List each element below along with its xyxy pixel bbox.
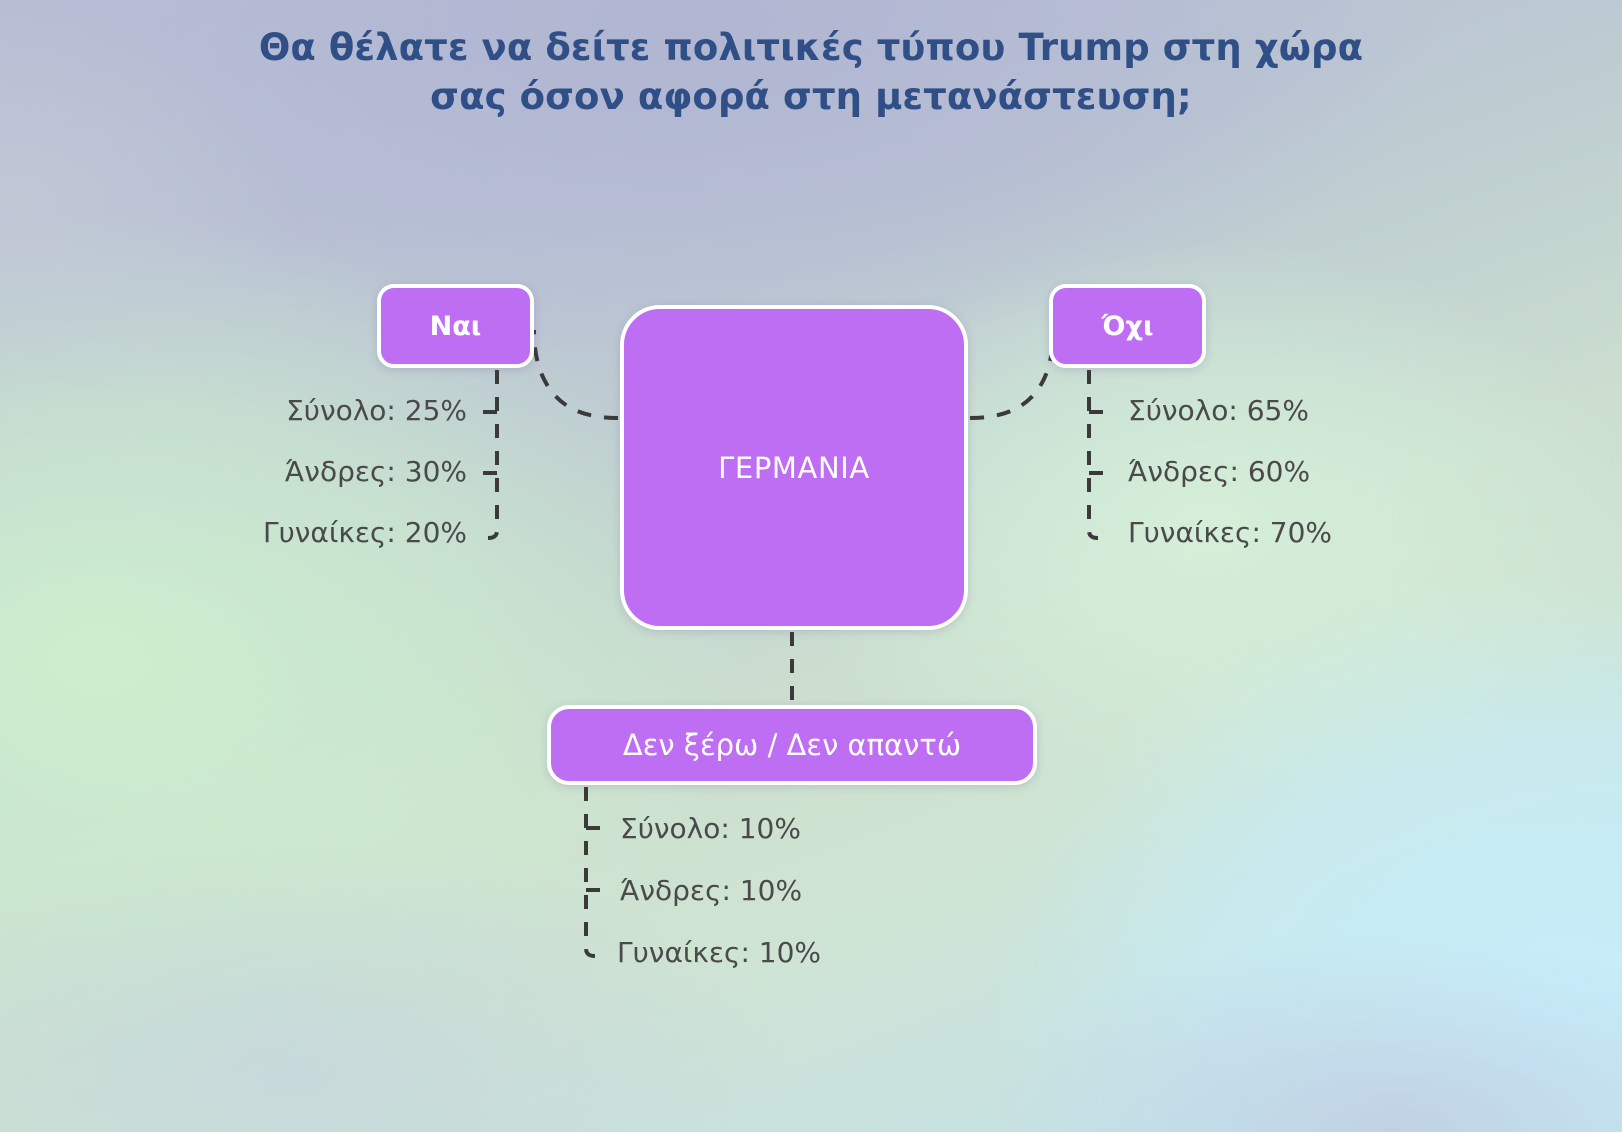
node-dont-know[interactable]: Δεν ξέρω / Δεν απαντώ	[547, 705, 1037, 785]
node-no-label: Όχι	[1102, 311, 1154, 342]
connector-yes-spine	[488, 370, 497, 538]
connector-dontknow-spine	[586, 787, 595, 956]
stat-dont-know-men: Άνδρες: 10%	[620, 874, 802, 907]
connector-center-to-no	[970, 330, 1053, 418]
stat-no-men: Άνδρες: 60%	[1128, 455, 1310, 488]
node-dont-know-label: Δεν ξέρω / Δεν απαντώ	[623, 728, 961, 762]
connector-center-to-yes	[534, 330, 618, 418]
stat-no-total: Σύνολο: 65%	[1128, 394, 1309, 427]
page-title-line-2: σας όσον αφορά στη μετανάστευση;	[0, 73, 1622, 122]
stat-dont-know-women: Γυναίκες: 10%	[617, 936, 821, 969]
connector-no-spine	[1089, 370, 1098, 538]
page-title-line-1: Θα θέλατε να δείτε πολιτικές τύπου Trump…	[0, 24, 1622, 73]
page-title: Θα θέλατε να δείτε πολιτικές τύπου Trump…	[0, 24, 1622, 122]
stat-dont-know-total: Σύνολο: 10%	[620, 812, 801, 845]
stat-yes-men: Άνδρες: 30%	[285, 455, 467, 488]
stat-yes-total: Σύνολο: 25%	[286, 394, 467, 427]
node-country-label: ΓΕΡΜΑΝΙΑ	[718, 451, 870, 485]
node-country-germany[interactable]: ΓΕΡΜΑΝΙΑ	[620, 305, 968, 630]
node-no[interactable]: Όχι	[1049, 284, 1206, 368]
node-yes-label: Ναι	[430, 311, 482, 342]
infographic-canvas: Θα θέλατε να δείτε πολιτικές τύπου Trump…	[0, 0, 1622, 1132]
node-yes[interactable]: Ναι	[377, 284, 534, 368]
stat-no-women: Γυναίκες: 70%	[1128, 516, 1332, 549]
stat-yes-women: Γυναίκες: 20%	[263, 516, 467, 549]
